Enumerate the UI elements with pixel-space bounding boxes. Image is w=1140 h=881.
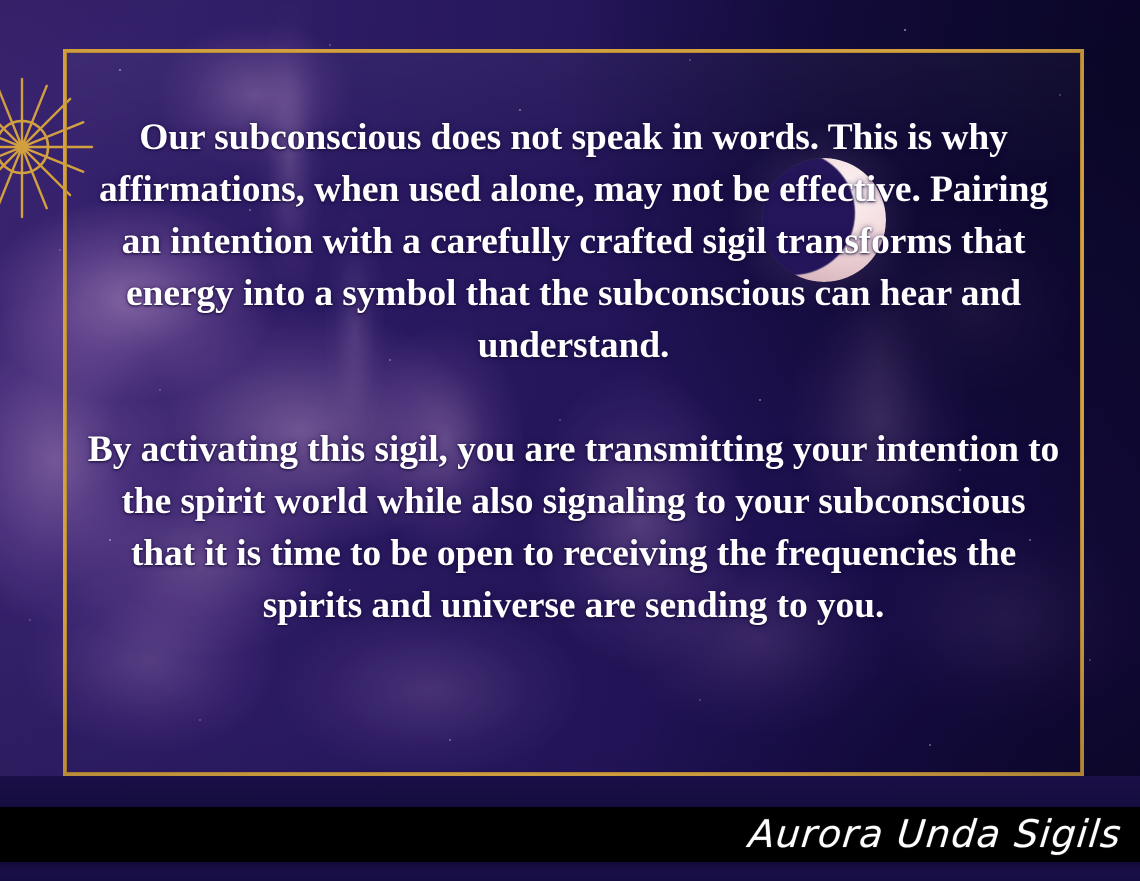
brand-signature: Aurora Unda Sigils	[746, 806, 1125, 862]
footer-upper-band	[0, 776, 1140, 808]
card-body-text: Our subconscious does not speak in words…	[86, 112, 1061, 632]
paragraph-2: By activating this sigil, you are transm…	[86, 424, 1061, 632]
sigil-info-card: Our subconscious does not speak in words…	[0, 0, 1140, 881]
paragraph-1: Our subconscious does not speak in words…	[86, 112, 1061, 372]
footer-lower-band	[0, 862, 1140, 881]
